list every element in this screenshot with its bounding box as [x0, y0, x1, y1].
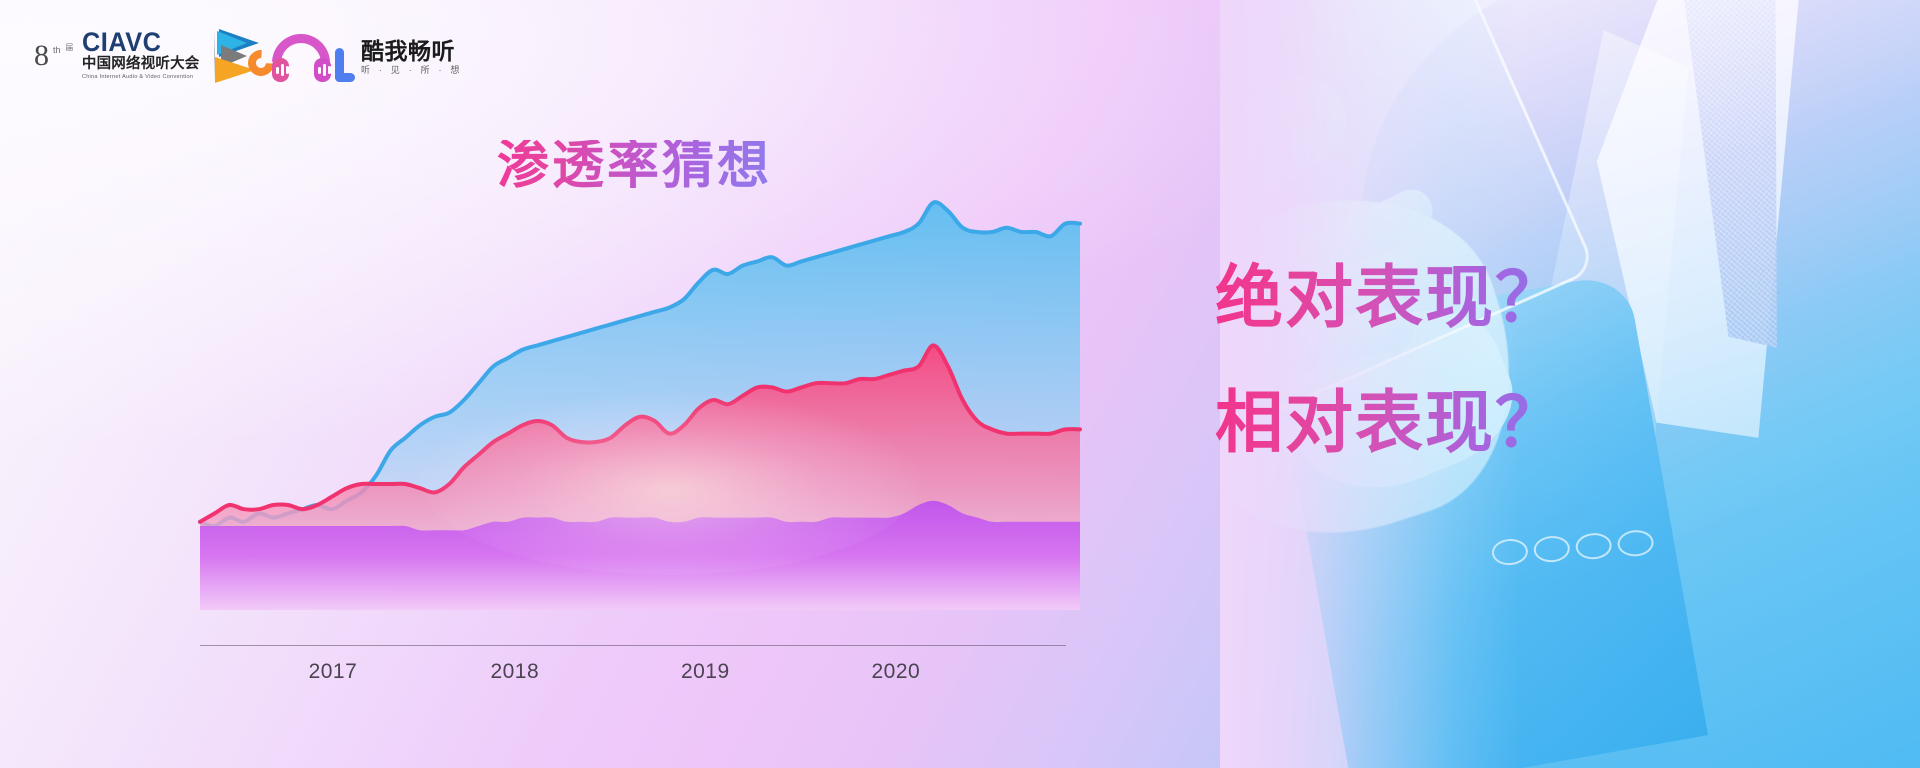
page-title: 渗透率猜想 — [497, 140, 772, 192]
ciavc-edition-ordinal: th — [53, 45, 61, 55]
area-chart — [200, 190, 1080, 610]
ciavc-edition-unit: 届 — [65, 43, 73, 65]
ciavc-logo: 8 th 届 CIAVC 中国网络视听大会 China Internet Aud… — [34, 27, 267, 83]
kuwo-slogan: 听 · 见 · 所 · 想 — [361, 66, 463, 75]
area-chart-svg — [200, 190, 1080, 610]
question-block: 绝对表现？ 相对表现？ — [1215, 255, 1635, 467]
x-tick-2020: 2020 — [871, 660, 920, 684]
x-tick-2017: 2017 — [309, 660, 358, 684]
question-absolute-performance: 绝对表现？ — [1215, 255, 1635, 342]
ciavc-name-en: China Internet Audio & Video Convention — [82, 75, 200, 81]
kuwo-wordmark: 酷我畅听 听 · 见 · 所 · 想 — [361, 40, 463, 75]
slide-canvas: 8 th 届 CIAVC 中国网络视听大会 China Internet Aud… — [0, 0, 1920, 768]
ciavc-edition-number: 8 — [34, 42, 49, 69]
x-axis-tick-labels: 2017201820192020 — [200, 660, 1066, 694]
question-relative-performance: 相对表现？ — [1215, 380, 1635, 467]
kuwo-name-cn: 酷我畅听 — [361, 40, 463, 63]
kuwo-headphone-icon — [248, 32, 352, 82]
ciavc-name-cn: 中国网络视听大会 — [82, 57, 200, 73]
ciavc-wordmark: CIAVC 中国网络视听大会 China Internet Audio & Vi… — [82, 29, 200, 80]
ciavc-edition-mark: 8 th 届 — [34, 42, 73, 69]
chart-center-glow — [420, 385, 920, 575]
kuwo-logo: 酷我畅听 听 · 见 · 所 · 想 — [248, 32, 463, 82]
header-logos: 8 th 届 CIAVC 中国网络视听大会 China Internet Aud… — [0, 0, 900, 120]
ciavc-acronym: CIAVC — [82, 29, 193, 56]
logo-divider — [214, 31, 215, 81]
x-axis-line — [200, 645, 1066, 646]
x-tick-2019: 2019 — [681, 660, 730, 684]
x-tick-2018: 2018 — [490, 660, 539, 684]
